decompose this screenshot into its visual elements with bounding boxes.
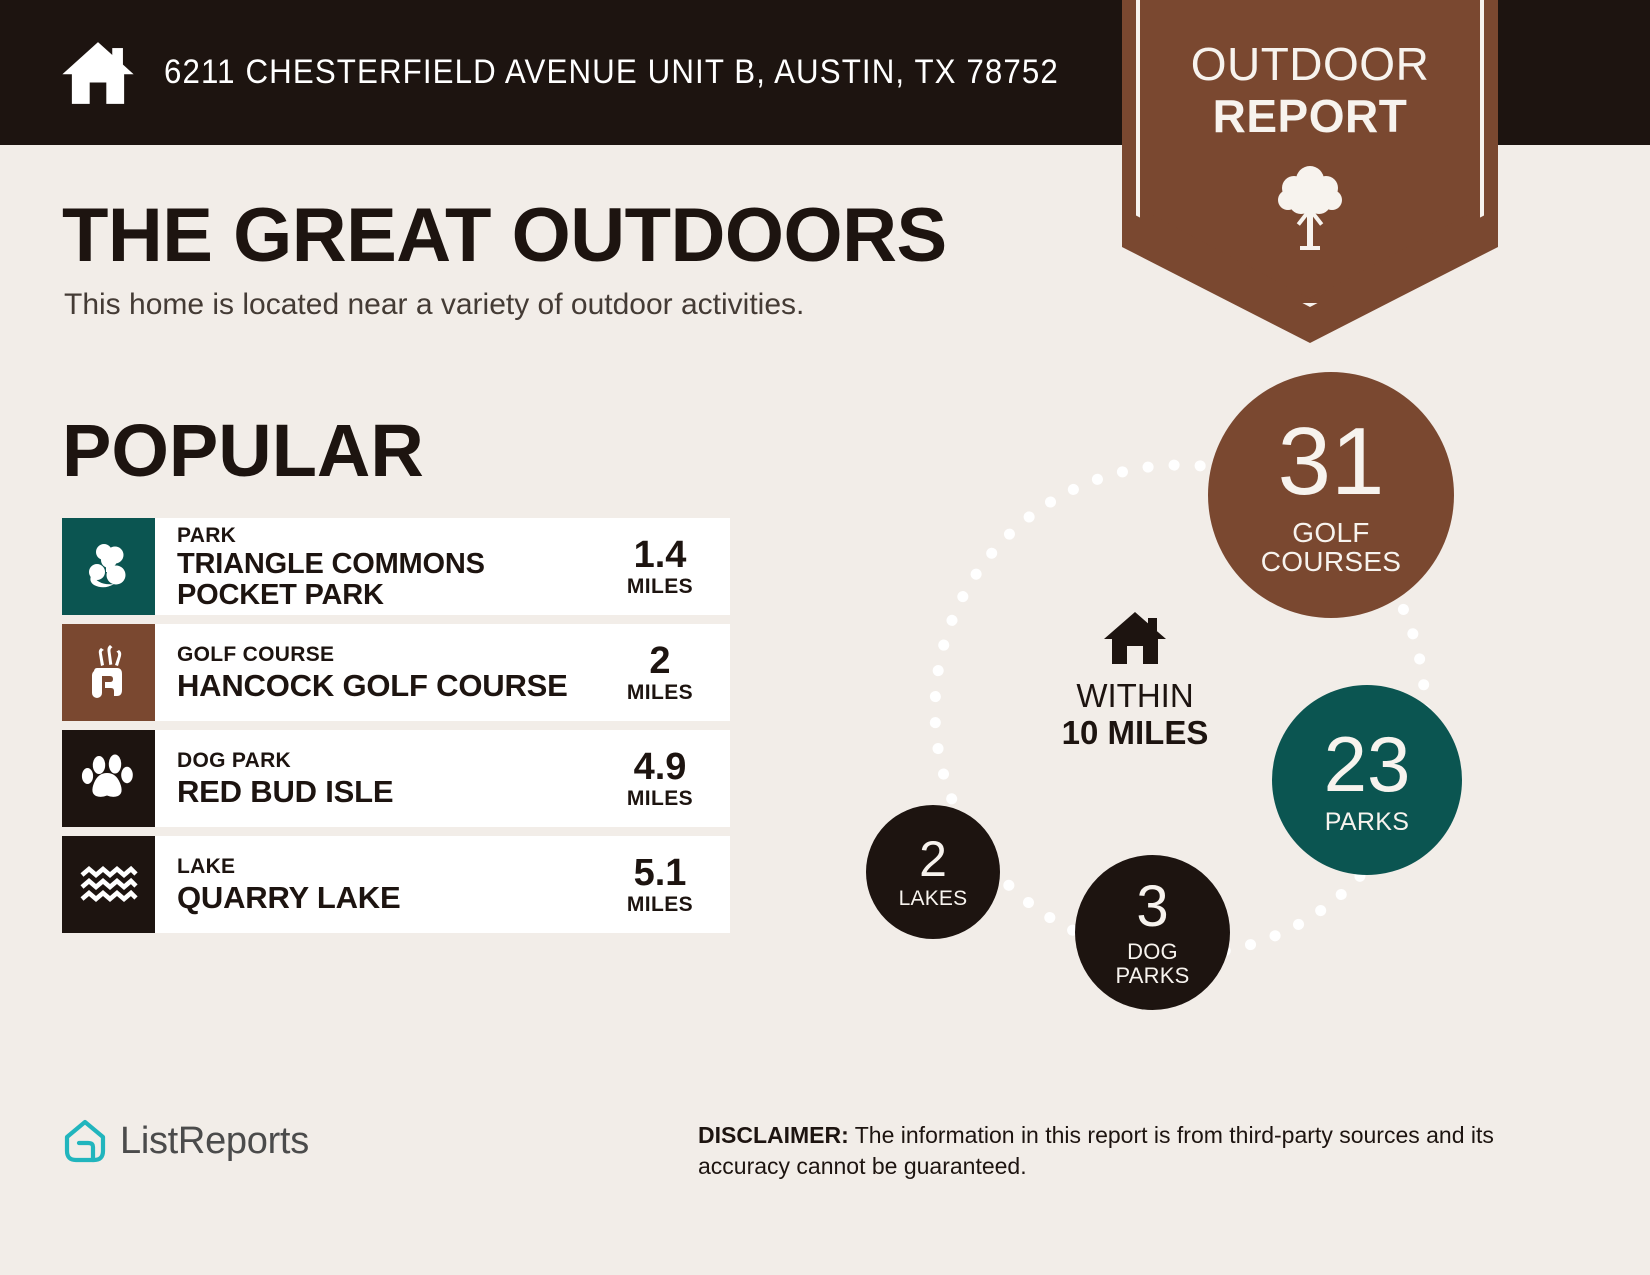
list-item-text: LAKE QUARRY LAKE xyxy=(155,836,604,933)
distance-unit: MILES xyxy=(627,681,693,705)
list-item-text: PARK TRIANGLE COMMONS POCKET PARK xyxy=(155,518,604,615)
diagram-center-text: WITHIN 10 MILES xyxy=(1000,677,1270,751)
center-line-1: WITHIN xyxy=(1000,677,1270,714)
stat-label-line1: PARKS xyxy=(1325,809,1409,835)
list-item-icon-box xyxy=(62,836,155,933)
popular-list: PARK TRIANGLE COMMONS POCKET PARK 1.4 MI… xyxy=(62,518,730,942)
distance-unit: MILES xyxy=(627,787,693,811)
section-title-popular: POPULAR xyxy=(62,408,424,493)
home-icon xyxy=(1102,653,1168,670)
property-address: 6211 CHESTERFIELD AVENUE UNIT B, AUSTIN,… xyxy=(164,53,1059,92)
home-icon xyxy=(60,35,136,111)
list-item-text: GOLF COURSE HANCOCK GOLF COURSE xyxy=(155,624,604,721)
diagram-center: WITHIN 10 MILES xyxy=(1000,610,1270,751)
list-item[interactable]: DOG PARK RED BUD ISLE 4.9 MILES xyxy=(62,730,730,827)
stat-label-line2: PARKS xyxy=(1116,964,1190,987)
badge-line-1: OUTDOOR xyxy=(1122,38,1498,90)
stat-circle-lakes: 2 LAKES xyxy=(866,805,1000,939)
stat-label-line1: LAKES xyxy=(899,888,968,910)
list-item[interactable]: PARK TRIANGLE COMMONS POCKET PARK 1.4 MI… xyxy=(62,518,730,615)
park-tree-icon xyxy=(82,540,136,594)
page-title: THE GREAT OUTDOORS xyxy=(62,192,947,279)
stat-label-line1: DOG xyxy=(1127,940,1178,963)
list-item-category: DOG PARK xyxy=(177,748,393,774)
page-subtitle: This home is located near a variety of o… xyxy=(64,288,804,322)
disclaimer: DISCLAIMER: The information in this repo… xyxy=(698,1120,1508,1182)
list-item-name: HANCOCK GOLF COURSE xyxy=(177,668,568,703)
golf-bag-icon xyxy=(84,644,134,702)
distance-value: 4.9 xyxy=(634,747,687,787)
stat-label-line2: COURSES xyxy=(1261,547,1402,576)
list-item-name: RED BUD ISLE xyxy=(177,774,393,809)
list-item-name: TRIANGLE COMMONS POCKET PARK xyxy=(177,549,596,611)
listreports-logo[interactable]: ListReports xyxy=(62,1118,309,1164)
list-item-distance: 4.9 MILES xyxy=(604,730,730,827)
header-content: 6211 CHESTERFIELD AVENUE UNIT B, AUSTIN,… xyxy=(60,0,1137,145)
distance-unit: MILES xyxy=(627,893,693,917)
list-item-category: PARK xyxy=(177,523,596,549)
list-item-category: GOLF COURSE xyxy=(177,642,568,668)
distance-value: 1.4 xyxy=(634,535,687,575)
stat-count: 23 xyxy=(1324,725,1411,803)
stat-circle-dog-parks: 3 DOG PARKS xyxy=(1075,855,1230,1010)
list-item[interactable]: GOLF COURSE HANCOCK GOLF COURSE 2 MILES xyxy=(62,624,730,721)
badge-title: OUTDOOR REPORT xyxy=(1122,38,1498,142)
stat-count: 2 xyxy=(919,834,947,884)
list-item-distance: 5.1 MILES xyxy=(604,836,730,933)
stat-count: 31 xyxy=(1278,414,1385,510)
list-item-icon-box xyxy=(62,730,155,827)
distance-unit: MILES xyxy=(627,575,693,599)
badge-line-2: REPORT xyxy=(1122,90,1498,142)
stat-circle-golf-courses: 31 GOLF COURSES xyxy=(1208,372,1454,618)
stat-label-line1: GOLF xyxy=(1292,518,1369,547)
list-item-category: LAKE xyxy=(177,854,400,880)
outdoor-report-badge: OUTDOOR REPORT xyxy=(1122,0,1498,343)
list-item-icon-box xyxy=(62,624,155,721)
distance-value: 5.1 xyxy=(634,853,687,893)
amenities-diagram: 31 GOLF COURSES 23 PARKS 3 DOG PARKS 2 L… xyxy=(830,355,1530,1055)
paw-print-icon xyxy=(81,752,137,806)
list-item-distance: 2 MILES xyxy=(604,624,730,721)
stat-circle-parks: 23 PARKS xyxy=(1272,685,1462,875)
center-line-2: 10 MILES xyxy=(1000,714,1270,751)
list-item-icon-box xyxy=(62,518,155,615)
house-outline-icon xyxy=(62,1118,108,1164)
list-item-text: DOG PARK RED BUD ISLE xyxy=(155,730,604,827)
list-item-name: QUARRY LAKE xyxy=(177,880,400,915)
list-item[interactable]: LAKE QUARRY LAKE 5.1 MILES xyxy=(62,836,730,933)
distance-value: 2 xyxy=(649,641,670,681)
waves-icon xyxy=(80,865,138,905)
disclaimer-label: DISCLAIMER: xyxy=(698,1122,849,1148)
logo-wordmark: ListReports xyxy=(120,1120,309,1163)
list-item-distance: 1.4 MILES xyxy=(604,518,730,615)
stat-count: 3 xyxy=(1136,878,1168,936)
